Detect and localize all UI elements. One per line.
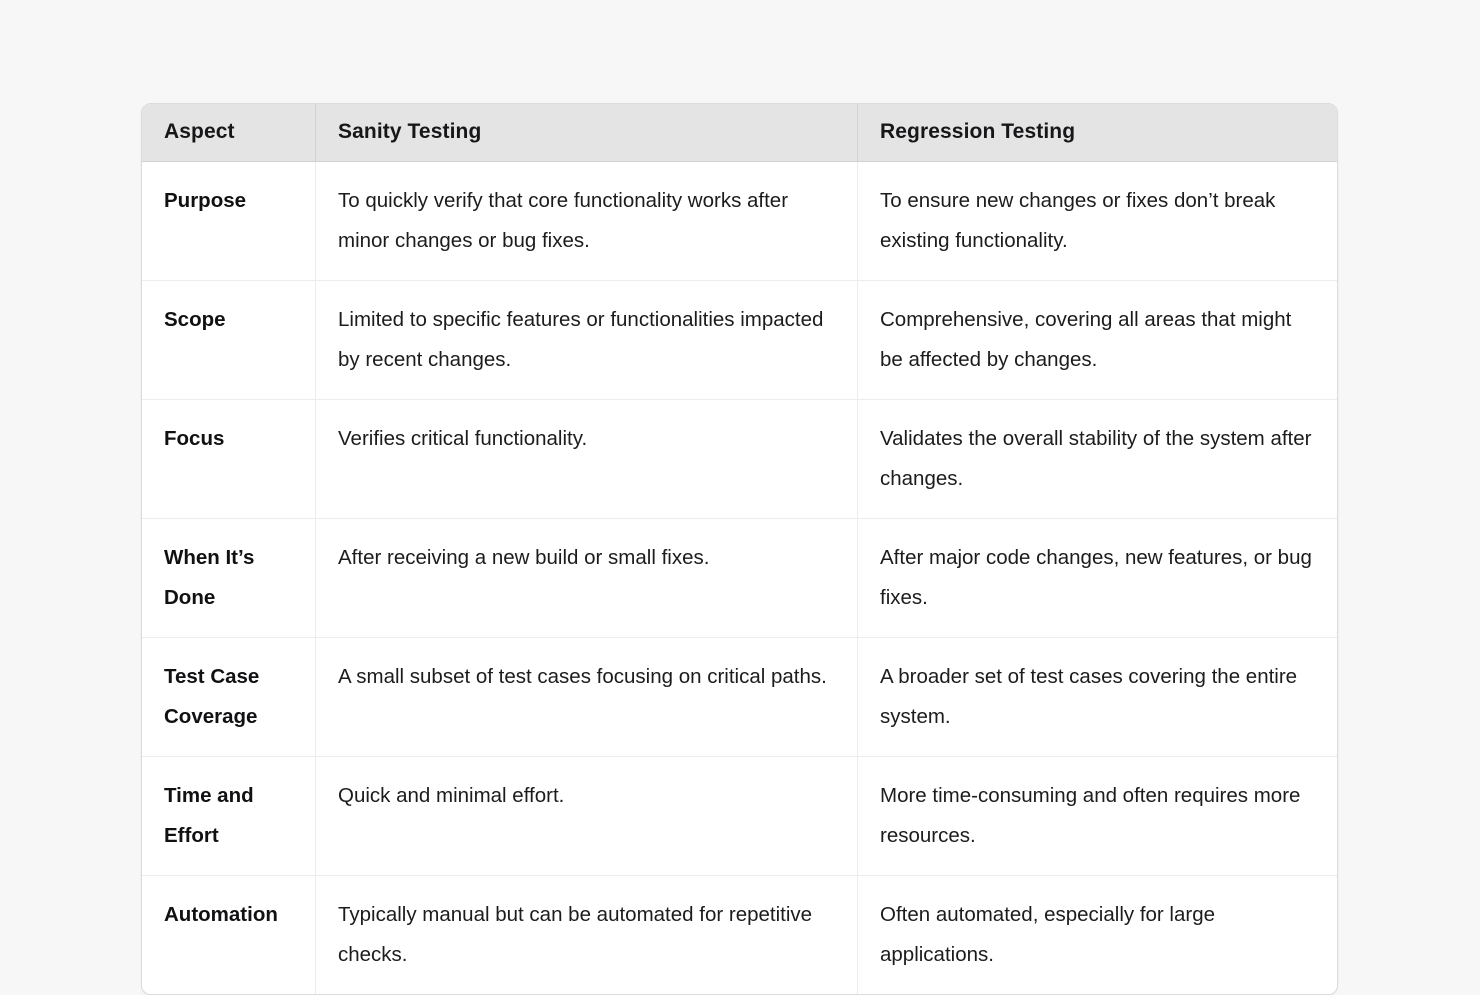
cell-aspect: When It’s Done bbox=[142, 518, 315, 637]
cell-regression-testing: More time-consuming and often requires m… bbox=[857, 756, 1337, 875]
cell-sanity-testing: Verifies critical functionality. bbox=[315, 399, 857, 518]
comparison-table: Aspect Sanity Testing Regression Testing… bbox=[141, 103, 1338, 995]
table-row: Purpose To quickly verify that core func… bbox=[142, 162, 1337, 280]
table-header-row: Aspect Sanity Testing Regression Testing bbox=[142, 104, 1337, 162]
table-row: Automation Typically manual but can be a… bbox=[142, 875, 1337, 994]
cell-regression-testing: A broader set of test cases covering the… bbox=[857, 637, 1337, 756]
cell-regression-testing: Often automated, especially for large ap… bbox=[857, 875, 1337, 994]
table-row: Test Case Coverage A small subset of tes… bbox=[142, 637, 1337, 756]
cell-regression-testing: To ensure new changes or fixes don’t bre… bbox=[857, 162, 1337, 280]
cell-regression-testing: After major code changes, new features, … bbox=[857, 518, 1337, 637]
page-root: Aspect Sanity Testing Regression Testing… bbox=[0, 0, 1480, 932]
cell-aspect: Test Case Coverage bbox=[142, 637, 315, 756]
column-header-sanity-testing: Sanity Testing bbox=[315, 104, 857, 162]
cell-aspect: Automation bbox=[142, 875, 315, 994]
cell-regression-testing: Comprehensive, covering all areas that m… bbox=[857, 280, 1337, 399]
table-row: Time and Effort Quick and minimal effort… bbox=[142, 756, 1337, 875]
cell-aspect: Purpose bbox=[142, 162, 315, 280]
cell-sanity-testing: Limited to specific features or function… bbox=[315, 280, 857, 399]
cell-aspect: Focus bbox=[142, 399, 315, 518]
column-header-regression-testing: Regression Testing bbox=[857, 104, 1337, 162]
cell-aspect: Scope bbox=[142, 280, 315, 399]
cell-aspect: Time and Effort bbox=[142, 756, 315, 875]
table-row: Scope Limited to specific features or fu… bbox=[142, 280, 1337, 399]
table-row: When It’s Done After receiving a new bui… bbox=[142, 518, 1337, 637]
table-body: Purpose To quickly verify that core func… bbox=[142, 162, 1337, 994]
cell-sanity-testing: After receiving a new build or small fix… bbox=[315, 518, 857, 637]
cell-regression-testing: Validates the overall stability of the s… bbox=[857, 399, 1337, 518]
cell-sanity-testing: Typically manual but can be automated fo… bbox=[315, 875, 857, 994]
cell-sanity-testing: Quick and minimal effort. bbox=[315, 756, 857, 875]
table-header: Aspect Sanity Testing Regression Testing bbox=[142, 104, 1337, 162]
cell-sanity-testing: To quickly verify that core functionalit… bbox=[315, 162, 857, 280]
column-header-aspect: Aspect bbox=[142, 104, 315, 162]
table-row: Focus Verifies critical functionality. V… bbox=[142, 399, 1337, 518]
cell-sanity-testing: A small subset of test cases focusing on… bbox=[315, 637, 857, 756]
comparison-table-container: Aspect Sanity Testing Regression Testing… bbox=[141, 103, 1336, 995]
